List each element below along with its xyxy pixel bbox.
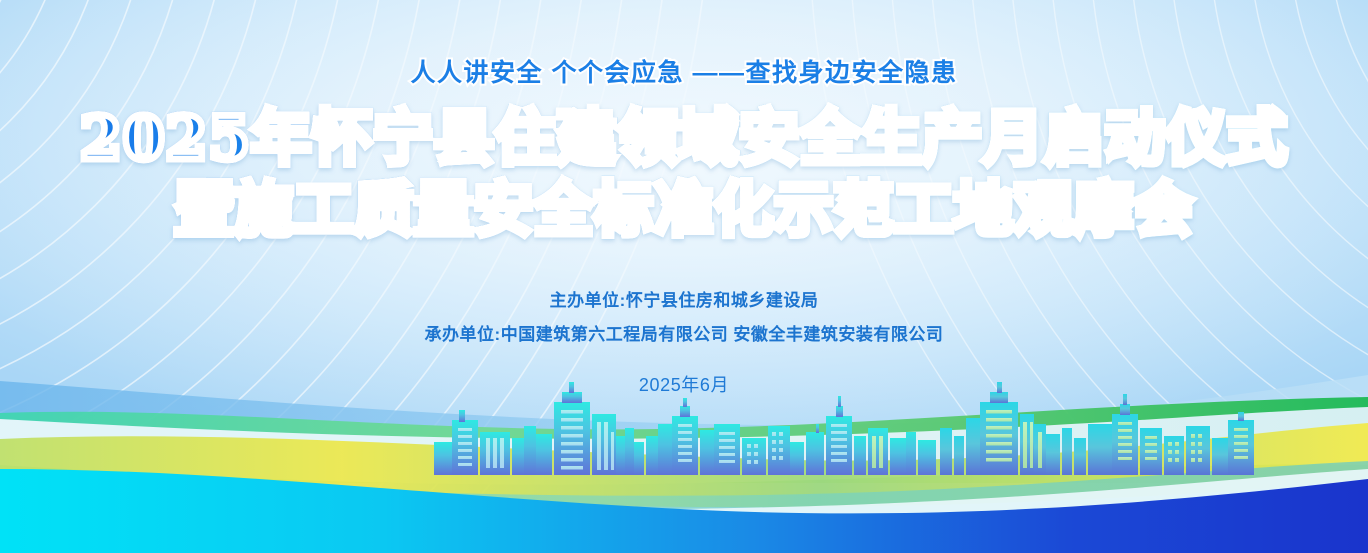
- event-date: 2025年6月: [0, 371, 1368, 397]
- organizer-unit-line: 承办单位:中国建筑第六工程局有限公司 安徽全丰建筑安装有限公司: [0, 318, 1368, 351]
- safety-slogan: 人人讲安全 个个会应急 ——查找身边安全隐患: [0, 58, 1368, 88]
- event-banner: 人人讲安全 个个会应急 ——查找身边安全隐患 2025年怀宁县住建领域安全生产月…: [0, 0, 1368, 553]
- title-line-2: 暨施工质量安全标准化示范工地观摩会: [0, 175, 1368, 245]
- host-unit-line: 主办单位:怀宁县住房和城乡建设局: [0, 284, 1368, 317]
- organizer-block: 主办单位:怀宁县住房和城乡建设局 承办单位:中国建筑第六工程局有限公司 安徽全丰…: [0, 284, 1368, 396]
- banner-content: 人人讲安全 个个会应急 ——查找身边安全隐患 2025年怀宁县住建领域安全生产月…: [0, 0, 1368, 397]
- title-line-1: 2025年怀宁县住建领域安全生产月启动仪式: [0, 104, 1368, 175]
- page-title: 2025年怀宁县住建领域安全生产月启动仪式 暨施工质量安全标准化示范工地观摩会: [0, 104, 1368, 244]
